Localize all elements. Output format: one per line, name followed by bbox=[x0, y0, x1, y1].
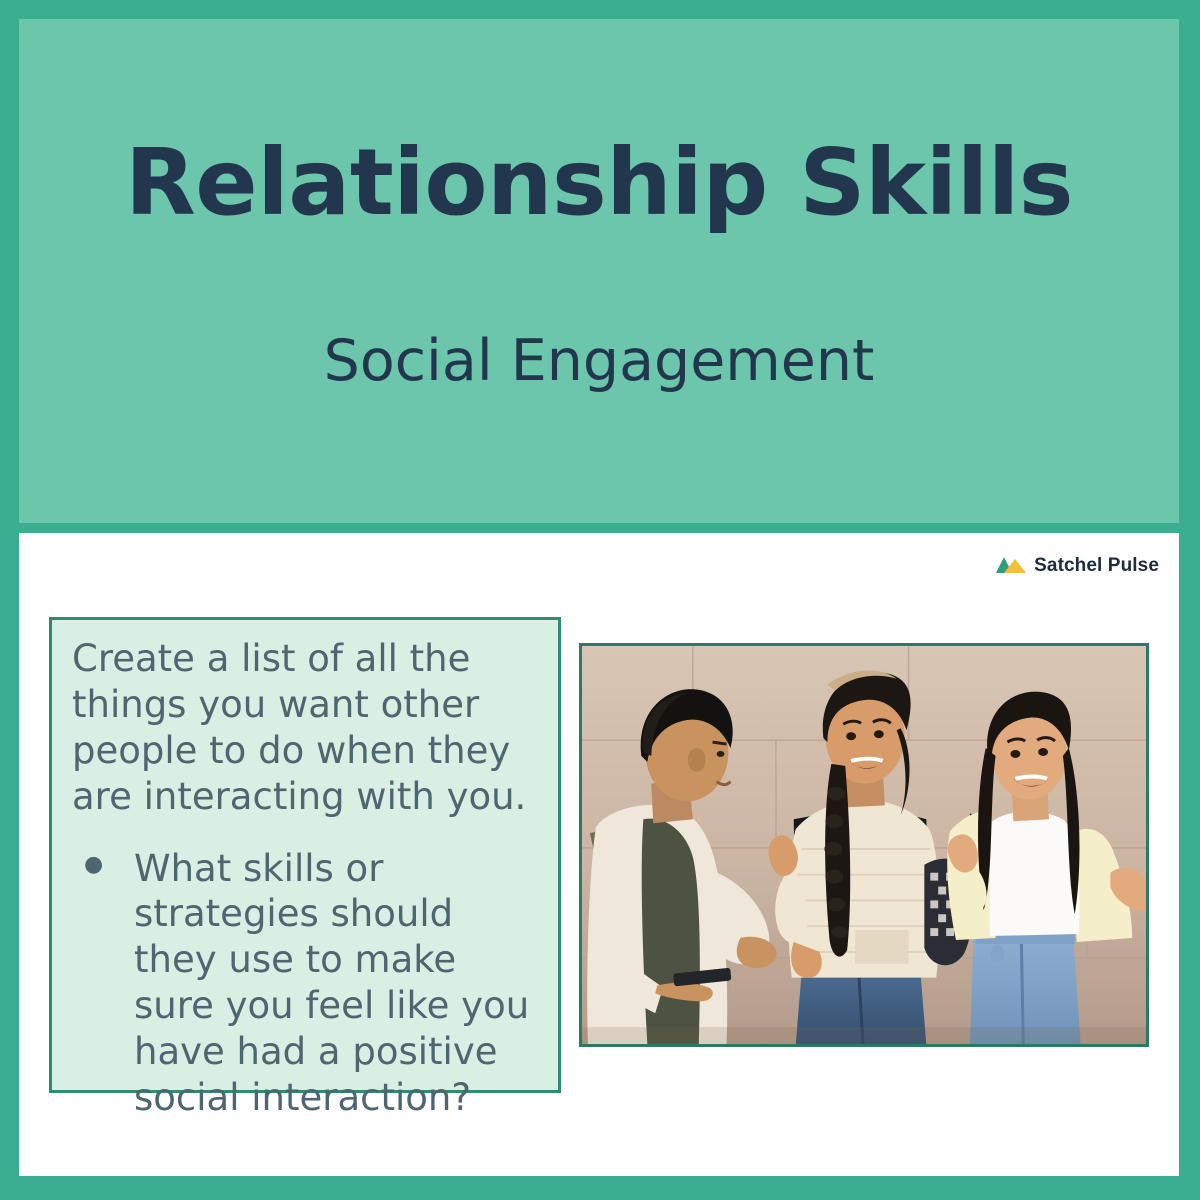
prompt-lead-text: Create a list of all the things you want… bbox=[72, 636, 538, 820]
prompt-bullet-list: What skills or strategies should they us… bbox=[72, 846, 538, 1121]
page-subtitle: Social Engagement bbox=[19, 229, 1179, 390]
title-banner: Relationship Skills Social Engagement bbox=[19, 19, 1179, 523]
two-mountains-icon bbox=[996, 556, 1026, 576]
content-panel: Satchel Pulse Create a list of all the t… bbox=[19, 533, 1179, 1176]
brand-logo[interactable]: Satchel Pulse bbox=[996, 555, 1159, 577]
prompt-card: Create a list of all the things you want… bbox=[49, 617, 561, 1093]
students-photo-illustration bbox=[582, 646, 1146, 1044]
page-title: Relationship Skills bbox=[19, 19, 1179, 229]
students-photo bbox=[579, 643, 1149, 1047]
list-item: What skills or strategies should they us… bbox=[72, 846, 538, 1121]
slide-root: Relationship Skills Social Engagement Sa… bbox=[0, 0, 1200, 1200]
brand-name: Satchel Pulse bbox=[1034, 555, 1159, 577]
